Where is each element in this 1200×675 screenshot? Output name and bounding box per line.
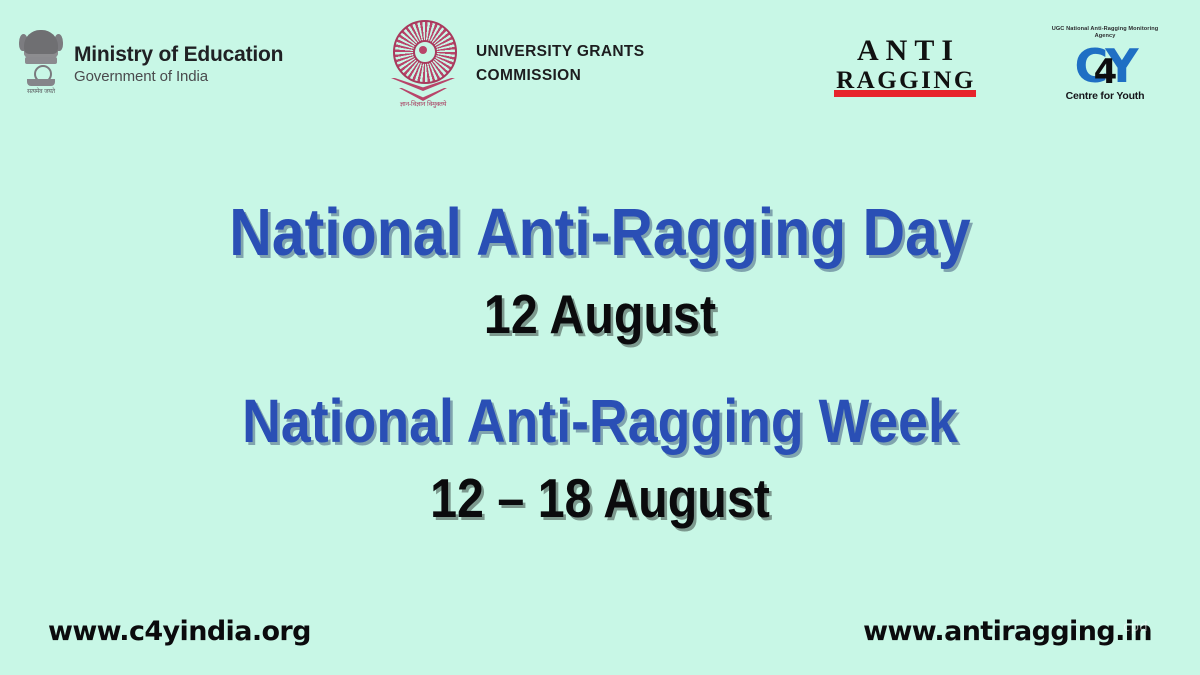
national-anti-ragging-day-heading: National Anti-Ragging Day — [72, 196, 1128, 270]
c4yindia-url-link[interactable]: www.c4yindia.org — [48, 616, 311, 647]
c4y-numeral: 4 — [1094, 55, 1118, 89]
ugc-chakra-emblem-icon: ज्ञान-विज्ञान विमुक्तये — [386, 18, 460, 110]
logo-ministry-of-education: सत्यमेव जयते Ministry of Education Gover… — [0, 28, 380, 100]
poster-canvas: सत्यमेव जयते Ministry of Education Gover… — [0, 0, 1200, 675]
government-of-india-label: Government of India — [74, 69, 283, 85]
anti-ragging-wordmark: ANTI RAGGING — [834, 36, 976, 93]
ugc-wordmark: UNIVERSITY GRANTS COMMISSION — [476, 40, 644, 88]
ministry-name: Ministry of Education — [74, 44, 283, 66]
national-anti-ragging-week-heading: National Anti-Ragging Week — [72, 387, 1128, 455]
logo-centre-for-youth: UGC National Anti-Ragging Monitoring Age… — [1010, 26, 1200, 102]
emblem-motto-text: सत्यमेव जयते — [18, 88, 64, 95]
c4y-wordmark: UGC National Anti-Ragging Monitoring Age… — [1046, 26, 1164, 102]
anti-ragging-line-2: RAGGING — [834, 68, 976, 93]
c4y-mark-icon: CY 4 — [1046, 43, 1164, 89]
ministry-of-education-text: Ministry of Education Government of Indi… — [74, 44, 283, 85]
footer-urls: www.c4yindia.org www.antiragging.in — [0, 616, 1200, 647]
logo-band: सत्यमेव जयते Ministry of Education Gover… — [0, 0, 1200, 128]
logo-anti-ragging: ANTI RAGGING — [800, 36, 1010, 93]
anti-ragging-line-1: ANTI — [834, 36, 976, 66]
anti-ragging-day-date: 12 August — [72, 283, 1128, 345]
c4y-tagline: UGC National Anti-Ragging Monitoring Age… — [1046, 26, 1164, 40]
headline-block: National Anti-Ragging Day 12 August Nati… — [0, 196, 1200, 529]
state-emblem-of-india-icon: सत्यमेव जयते — [18, 28, 64, 100]
antiragging-url-link[interactable]: www.antiragging.in — [863, 616, 1152, 647]
anti-ragging-week-date: 12 – 18 August — [72, 467, 1128, 529]
ugc-line-1: UNIVERSITY GRANTS — [476, 40, 644, 64]
ugc-line-2: COMMISSION — [476, 64, 644, 88]
logo-university-grants-commission: ज्ञान-विज्ञान विमुक्तये UNIVERSITY GRANT… — [380, 18, 800, 110]
ugc-motto-text: ज्ञान-विज्ञान विमुक्तये — [386, 100, 460, 108]
anti-ragging-line-2-wrap: RAGGING — [834, 68, 976, 93]
